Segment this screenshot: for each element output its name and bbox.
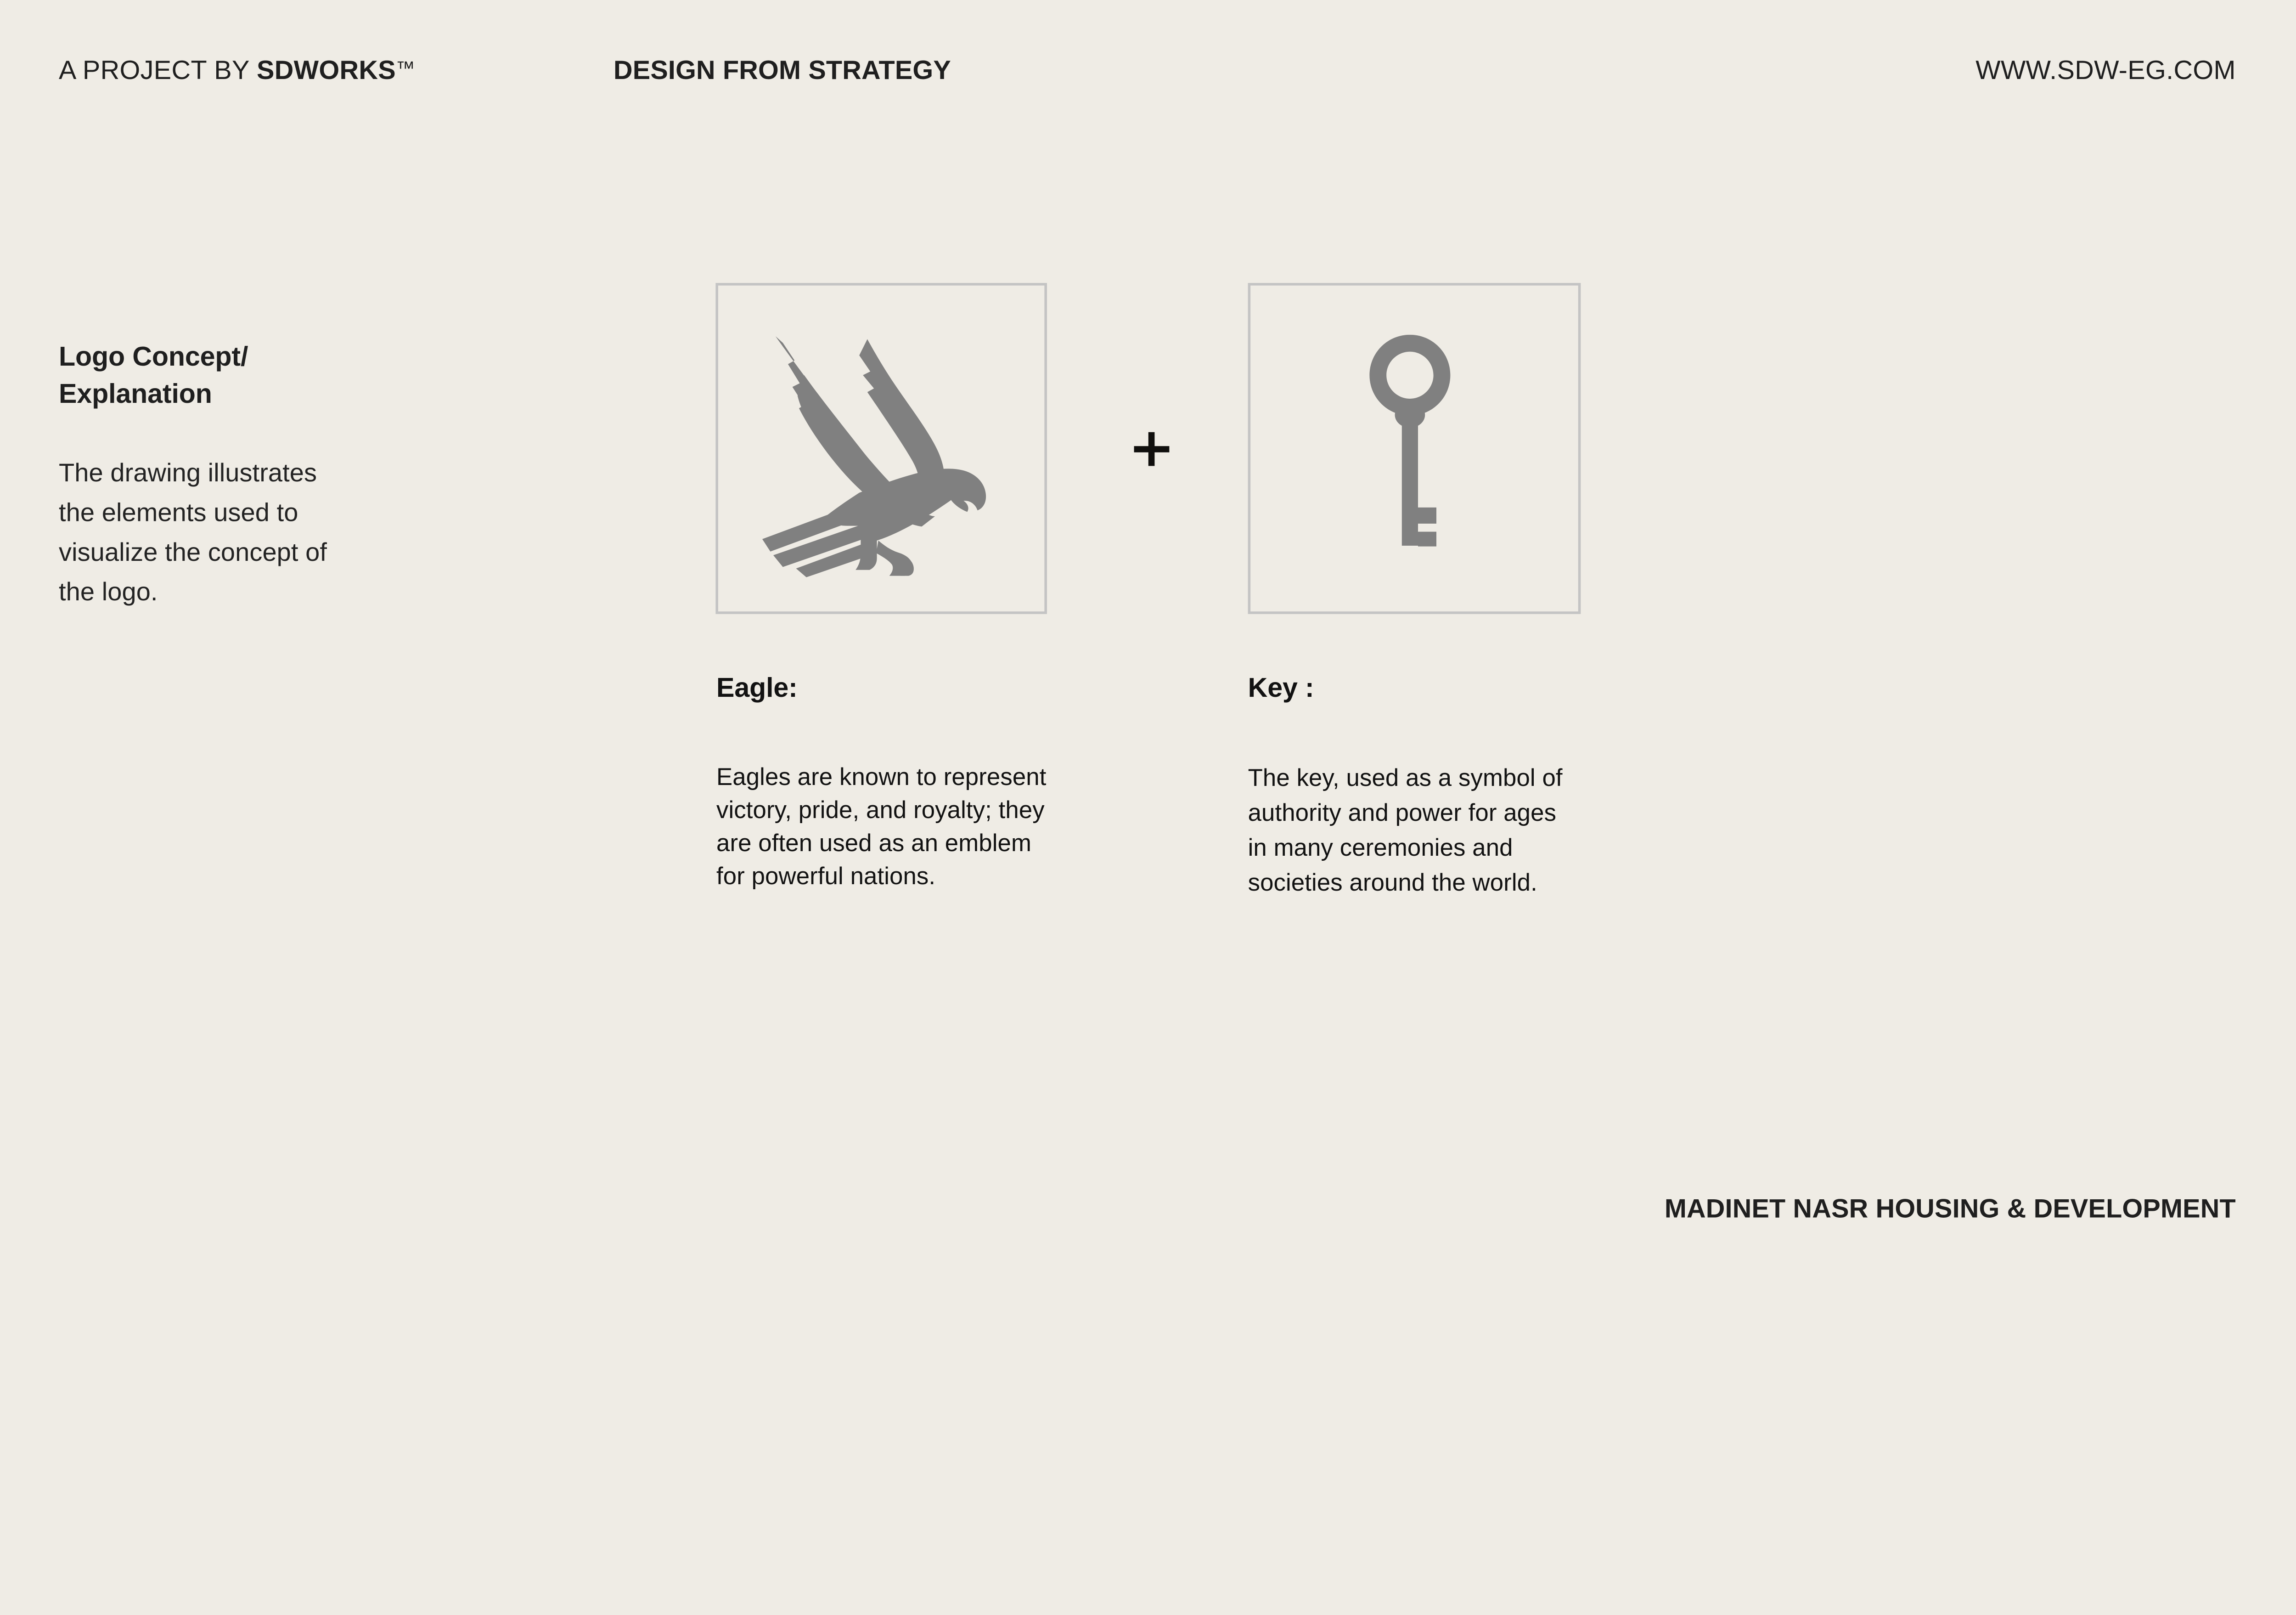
eagle-icon: [749, 320, 1013, 577]
key-caption-label: Key :: [1248, 672, 1586, 702]
header-website[interactable]: WWW.SDW-EG.COM: [1975, 57, 2236, 84]
explanation-body: The drawing illustrates the elements use…: [59, 453, 353, 612]
key-symbol-frame: [1248, 283, 1581, 614]
eagle-caption-label: Eagle:: [716, 672, 1054, 702]
eagle-caption: Eagle: Eagles are known to represent vic…: [716, 672, 1054, 892]
header-credit-prefix: A PROJECT BY: [59, 56, 257, 85]
explanation-title-line-2: Explanation: [59, 378, 212, 408]
key-icon: [1367, 334, 1462, 562]
explanation-title-line-1: Logo Concept/: [59, 341, 248, 371]
trademark-icon: ™: [396, 58, 415, 79]
plus-vertical-bar: [1148, 432, 1155, 466]
footer-client-name: MADINET NASR HOUSING & DEVELOPMENT: [1665, 1193, 2236, 1224]
explanation-block: Logo Concept/ Explanation The drawing il…: [59, 338, 389, 612]
header-credit-brand: SDWORKS: [257, 56, 396, 85]
slide-canvas: A PROJECT BY SDWORKS™ DESIGN FROM STRATE…: [0, 0, 2296, 1292]
explanation-title: Logo Concept/ Explanation: [59, 338, 389, 412]
key-caption: Key : The key, used as a symbol of autho…: [1248, 672, 1586, 900]
key-caption-description: The key, used as a symbol of authority a…: [1248, 761, 1579, 900]
header-credit: A PROJECT BY SDWORKS™: [59, 57, 415, 84]
plus-operator-icon: [1132, 430, 1171, 468]
header-tagline: DESIGN FROM STRATEGY: [613, 57, 951, 84]
eagle-caption-description: Eagles are known to represent victory, p…: [716, 761, 1054, 892]
eagle-symbol-frame: [715, 283, 1047, 614]
